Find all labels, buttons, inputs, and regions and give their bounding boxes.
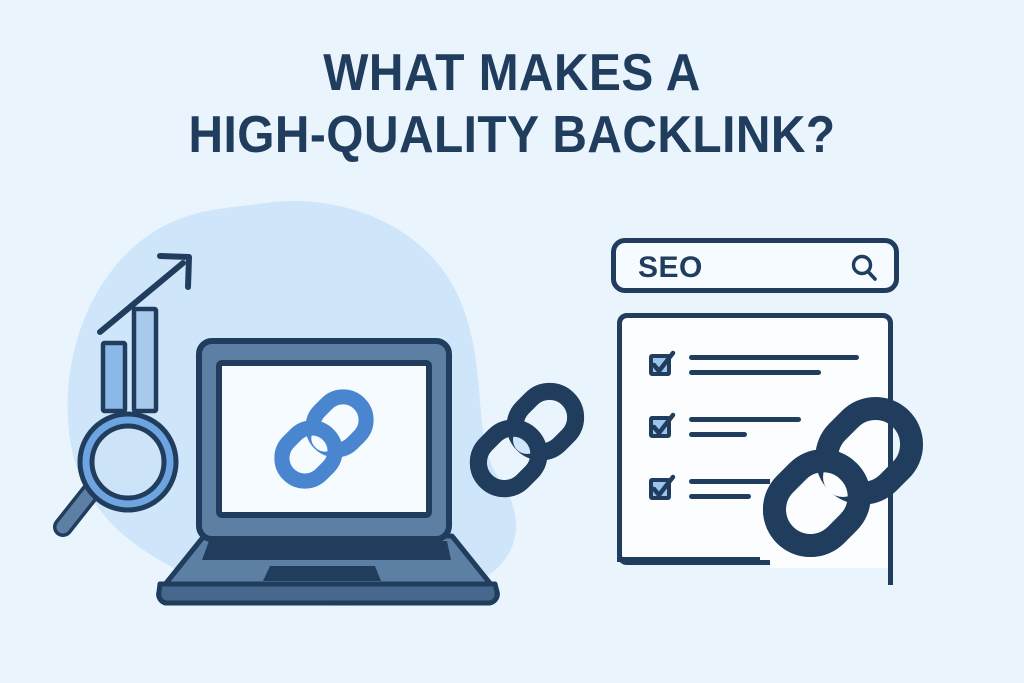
chain-link-icon [760, 394, 927, 561]
card-footer-line [617, 557, 760, 562]
infographic-canvas: WHAT MAKES A HIGH-QUALITY BACKLINK? [0, 0, 1024, 683]
checklist-overlay-layer [0, 0, 1024, 683]
